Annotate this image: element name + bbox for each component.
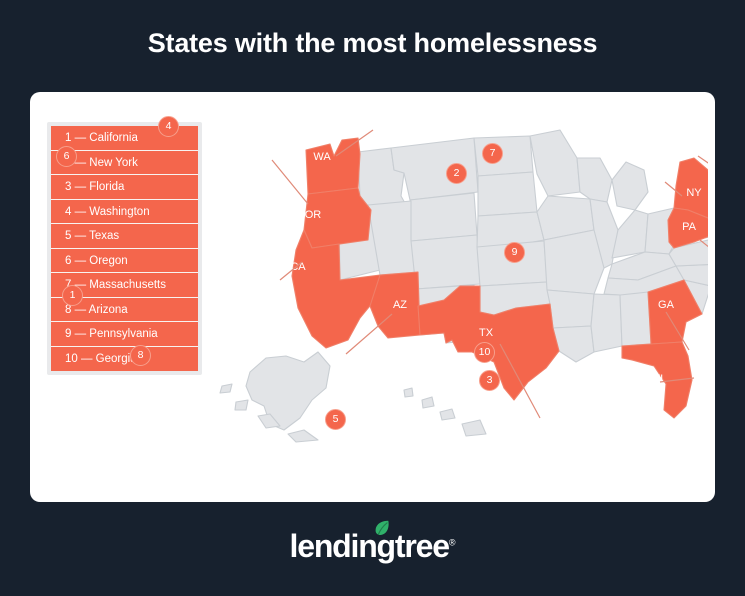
state-label-pa: PA [682,221,697,233]
us-choropleth-map: WA OR CA AZ TX GA FL NY MA PA [208,100,708,460]
list-item[interactable]: 6 — Oregon [51,249,198,274]
map-card: 1 — California 2 — New York 3 — Florida … [30,92,715,502]
state-label-tx: TX [479,327,494,339]
lendingtree-logo[interactable]: lendingtree® [0,528,745,574]
list-item[interactable]: 3 — Florida [51,175,198,200]
state-label-ny: NY [686,187,702,199]
state-label-az: AZ [393,299,407,311]
list-item[interactable]: 10 — Georgia [51,347,198,372]
leader-line-6 [272,160,308,204]
state-label-ga: GA [658,299,675,311]
state-label-or: OR [305,209,322,221]
map-marker-7[interactable]: 7 [482,143,503,164]
logo-wordmark-wrap: lendingtree® [290,528,456,565]
state-label-wa: WA [313,151,331,163]
map-marker-4[interactable]: 4 [158,116,179,137]
map-marker-5[interactable]: 5 [325,409,346,430]
map-marker-2[interactable]: 2 [446,163,467,184]
registered-mark: ® [449,537,456,547]
map-marker-8[interactable]: 8 [130,345,151,366]
logo-text: lendingtree [290,528,449,564]
map-marker-6[interactable]: 6 [56,146,77,167]
map-marker-3[interactable]: 3 [479,370,500,391]
page-title: States with the most homelessness [0,28,745,59]
state-washington [306,138,360,194]
list-item[interactable]: 5 — Texas [51,224,198,249]
leaf-icon [373,519,391,537]
state-label-fl: FL [654,373,667,385]
list-item[interactable]: 4 — Washington [51,200,198,225]
map-marker-1[interactable]: 1 [62,285,83,306]
state-label-ca: CA [290,261,306,273]
map-marker-9[interactable]: 9 [504,242,525,263]
map-marker-10[interactable]: 10 [474,342,495,363]
list-item[interactable]: 9 — Pennsylvania [51,322,198,347]
